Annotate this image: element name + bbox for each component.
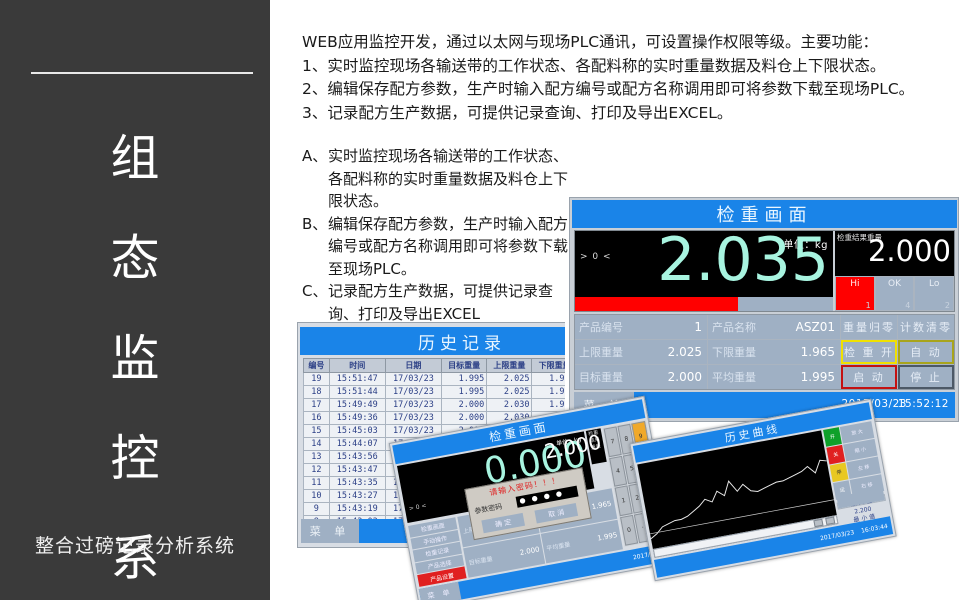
field-value: 1.995 bbox=[801, 370, 835, 384]
status-count: 1 bbox=[866, 301, 871, 310]
result-weight-box: 检重结果重量 2.000 bbox=[835, 231, 954, 276]
table-row[interactable]: 1815:51:4417/03/231.9952.0251.9652.000 bbox=[304, 386, 566, 399]
table-cell: 14 bbox=[304, 438, 330, 451]
field-label: 平均重量 bbox=[712, 369, 756, 385]
list-item: A、 实时监控现场各输送带的工作状态、各配料称的实时重量数据及料仓上下限状态。 bbox=[302, 145, 572, 213]
status-time: 16:03:44 bbox=[861, 523, 889, 535]
table-cell: 2.000 bbox=[442, 412, 487, 425]
field-value: 1.965 bbox=[591, 500, 612, 512]
start-button[interactable]: 启 动 bbox=[841, 365, 897, 389]
zero-indicator: > 0 < bbox=[408, 502, 427, 512]
status-count: 4 bbox=[905, 301, 910, 310]
slide-root: 组 态 监 控 系 统 说 明 整合过磅记录分析系统 WEB应用监控开发，通过以… bbox=[0, 0, 960, 600]
title-sidebar: 组 态 监 控 系 统 说 明 整合过磅记录分析系统 bbox=[0, 0, 270, 600]
dialog-field-label: 参数密码 bbox=[474, 502, 503, 517]
status-time: 15:52:12 bbox=[898, 398, 949, 410]
status-badge-lo[interactable]: Lo 2 bbox=[914, 276, 954, 311]
table-cell: 1.995 bbox=[442, 386, 487, 399]
table-cell: 1.965 bbox=[532, 373, 565, 386]
column-header: 时间 bbox=[329, 359, 385, 373]
column-header: 编号 bbox=[304, 359, 330, 373]
status-date: 2017/03/23 bbox=[820, 529, 855, 542]
field-upper-limit[interactable]: 上限重量 2.025 bbox=[575, 340, 707, 364]
state-indicator: 停 bbox=[830, 463, 849, 483]
table-cell: 2.030 bbox=[487, 399, 532, 412]
field-label: 下限重量 bbox=[712, 344, 756, 360]
table-cell: 17/03/23 bbox=[385, 399, 441, 412]
hmi-title: 检重画面 bbox=[572, 200, 957, 228]
column-header: 目标重量 bbox=[442, 359, 487, 373]
field-label: 目标重量 bbox=[468, 553, 493, 566]
status-count: 2 bbox=[945, 301, 950, 310]
table-cell: 15:49:49 bbox=[329, 399, 385, 412]
param-row: 目标重量 2.000 平均重量 1.995 启 动 停 止 bbox=[575, 365, 954, 389]
table-cell: 2.025 bbox=[487, 373, 532, 386]
title-char: 态 bbox=[0, 234, 270, 284]
table-cell: 15:49:36 bbox=[329, 412, 385, 425]
live-weight-display: > 0 < 单位：kg 2.035 bbox=[575, 231, 833, 311]
table-row[interactable]: 1715:49:4917/03/232.0002.0301.9701.960 bbox=[304, 399, 566, 412]
field-average-weight[interactable]: 平均重量 1.995 bbox=[708, 365, 840, 389]
intro-line: WEB应用监控开发，通过以太网与现场PLC通讯，可设置操作权限等级。主要功能： bbox=[302, 31, 952, 55]
status-label: OK bbox=[876, 279, 914, 289]
status-label: Hi bbox=[836, 279, 874, 289]
list-item-text: 实时监控现场各输送带的工作状态、各配料称的实时重量数据及料仓上下限状态。 bbox=[328, 145, 572, 213]
intro-text: WEB应用监控开发，通过以太网与现场PLC通讯，可设置操作权限等级。主要功能： … bbox=[302, 31, 952, 125]
table-cell: 18 bbox=[304, 386, 330, 399]
table-cell: 15 bbox=[304, 425, 330, 438]
status-label: Lo bbox=[915, 279, 953, 289]
intro-line: 2、编辑保存配方参数，生产时输入配方编号或配方名称调用即可将参数下载至现场PLC… bbox=[302, 78, 952, 102]
table-row[interactable]: 1915:51:4717/03/231.9952.0251.9652.000 bbox=[304, 373, 566, 386]
button-label: 自 动 bbox=[910, 344, 942, 360]
param-row: 产品编号 1 产品名称 ASZ01 重量归零 计数清零 bbox=[575, 315, 954, 339]
list-item: B、 编辑保存配方参数，生产时输入配方编号或配方名称调用即可将参数下载至现场PL… bbox=[302, 213, 572, 281]
scroll-left-button[interactable] bbox=[813, 519, 823, 528]
button-label: 检 重 开 bbox=[844, 344, 894, 360]
column-header: 下限重量 bbox=[532, 359, 565, 373]
result-weight-value: 2.000 bbox=[868, 234, 951, 268]
field-value: ASZ01 bbox=[796, 320, 835, 334]
field-value: 2.000 bbox=[668, 370, 702, 384]
result-panel: 检重结果重量 2.000 Hi 1 OK 4 Lo 2 bbox=[833, 231, 954, 311]
dialog-confirm-button[interactable]: 确 定 bbox=[481, 513, 525, 533]
table-cell: 2.025 bbox=[487, 386, 532, 399]
page-title: 组 态 监 控 系 统 说 明 bbox=[0, 84, 270, 600]
scroll-right-button[interactable] bbox=[825, 517, 835, 526]
param-row: 上限重量 2.025 下限重量 1.965 检 重 开 自 动 bbox=[575, 340, 954, 364]
list-item: C、 记录配方生产数据，可提供记录查询、打印及导出EXCEL bbox=[302, 280, 572, 325]
table-cell: 12 bbox=[304, 464, 330, 477]
table-cell: 10 bbox=[304, 490, 330, 503]
table-cell: 11 bbox=[304, 477, 330, 490]
table-cell: 1.965 bbox=[532, 386, 565, 399]
list-item-key: C、 bbox=[302, 280, 328, 303]
table-cell: 15:43:35 bbox=[329, 477, 385, 490]
intro-line: 1、实时监控现场各输送带的工作状态、各配料称的实时重量数据及料仓上下限状态。 bbox=[302, 55, 952, 79]
title-char: 组 bbox=[0, 134, 270, 184]
table-header-row: 编号 时间 日期 目标重量 上限重量 下限重量 实际重量 bbox=[304, 359, 566, 373]
field-label: 产品编号 bbox=[579, 319, 623, 335]
field-value: 2.000 bbox=[519, 545, 540, 557]
table-cell: 17/03/23 bbox=[385, 373, 441, 386]
field-label: 平均重量 bbox=[546, 539, 571, 552]
divider-rule bbox=[31, 72, 253, 74]
field-target-weight[interactable]: 目标重量 2.000 bbox=[575, 365, 707, 389]
stop-button[interactable]: 停 止 bbox=[898, 365, 954, 389]
table-cell: 15:45:03 bbox=[329, 425, 385, 438]
history-curve-screenshot: 历史曲线 开 放 大 关 缩 小 停 左 移 bbox=[629, 399, 896, 581]
table-cell: 2.000 bbox=[442, 399, 487, 412]
list-item-key: B、 bbox=[302, 213, 328, 236]
field-value: 2.025 bbox=[668, 345, 702, 359]
list-item-text: 编辑保存配方参数，生产时输入配方编号或配方名称调用即可将参数下载至现场PLC。 bbox=[328, 213, 572, 281]
feature-list: A、 实时监控现场各输送带的工作状态、各配料称的实时重量数据及料仓上下限状态。 … bbox=[302, 145, 572, 325]
table-cell: 15:44:07 bbox=[329, 438, 385, 451]
status-badge-ok[interactable]: OK 4 bbox=[875, 276, 915, 311]
menu-button[interactable]: 菜 单 bbox=[301, 519, 359, 543]
table-cell: 1.970 bbox=[532, 399, 565, 412]
table-cell: 15:51:44 bbox=[329, 386, 385, 399]
curve-minmax-info: 最 大 值 2.200 最 小 值 1.900 bbox=[837, 494, 886, 510]
hmi-parameter-grid: 产品编号 1 产品名称 ASZ01 重量归零 计数清零 上限重量 2.025 bbox=[574, 314, 955, 390]
table-cell: 15:51:47 bbox=[329, 373, 385, 386]
field-value: 1 bbox=[694, 320, 702, 334]
button-label: 重量归零 bbox=[843, 319, 895, 335]
field-label: 产品名称 bbox=[712, 319, 756, 335]
field-label: 上限重量 bbox=[579, 344, 623, 360]
weight-bar-track bbox=[575, 297, 833, 311]
intro-line: 3、记录配方生产数据，可提供记录查询、打印及导出EXCEL。 bbox=[302, 102, 952, 126]
state-indicator: 关 bbox=[826, 445, 845, 465]
table-cell: 15:43:47 bbox=[329, 464, 385, 477]
title-char: 监 bbox=[0, 334, 270, 384]
field-value: 1.995 bbox=[597, 531, 618, 543]
table-cell: 13 bbox=[304, 451, 330, 464]
table-cell: 16 bbox=[304, 412, 330, 425]
table-cell: 17 bbox=[304, 399, 330, 412]
state-indicator: 开 bbox=[823, 427, 842, 447]
weight-bar-fill bbox=[575, 297, 738, 311]
field-lower-limit[interactable]: 下限重量 1.965 bbox=[708, 340, 840, 364]
history-panel-title: 历史记录 bbox=[300, 327, 565, 355]
table-cell: 17/03/23 bbox=[385, 412, 441, 425]
live-weight-value: 2.035 bbox=[657, 231, 829, 295]
button-label: 计数清零 bbox=[900, 319, 952, 335]
page-subtitle: 整合过磅记录分析系统 bbox=[0, 531, 270, 558]
button-label: 启 动 bbox=[853, 369, 885, 385]
checkweigh-on-button[interactable]: 检 重 开 bbox=[841, 340, 897, 364]
field-product-code[interactable]: 产品编号 1 bbox=[575, 315, 707, 339]
tilt-side-menu: 检重画面手动操作检重记录产品选择产品设置 bbox=[408, 517, 466, 587]
list-item-text: 记录配方生产数据，可提供记录查询、打印及导出EXCEL bbox=[328, 280, 572, 325]
checkweigher-screenshot: 检重画面 > 0 < 单位：kg 2.035 检重结果重量 2.000 Hi bbox=[569, 197, 959, 422]
auto-mode-button[interactable]: 自 动 bbox=[898, 340, 954, 364]
table-cell: 1.995 bbox=[442, 373, 487, 386]
field-value: 1.965 bbox=[801, 345, 835, 359]
field-label: 目标重量 bbox=[579, 369, 623, 385]
table-cell: 9 bbox=[304, 503, 330, 516]
table-cell: 15:43:56 bbox=[329, 451, 385, 464]
hmi-display-area: > 0 < 单位：kg 2.035 检重结果重量 2.000 Hi 1 bbox=[574, 230, 955, 312]
zero-indicator: > 0 < bbox=[580, 252, 612, 262]
button-label: 停 止 bbox=[910, 369, 942, 385]
column-header: 日期 bbox=[385, 359, 441, 373]
zero-weight-button[interactable]: 重量归零 bbox=[841, 315, 897, 339]
status-counters: Hi 1 OK 4 Lo 2 bbox=[835, 276, 954, 311]
table-cell: 15:43:27 bbox=[329, 490, 385, 503]
status-badge-hi[interactable]: Hi 1 bbox=[835, 276, 875, 311]
dialog-cancel-button[interactable]: 取 消 bbox=[534, 503, 578, 523]
field-product-name[interactable]: 产品名称 ASZ01 bbox=[708, 315, 840, 339]
table-cell: 19 bbox=[304, 373, 330, 386]
table-cell: 17/03/23 bbox=[385, 386, 441, 399]
clear-count-button[interactable]: 计数清零 bbox=[898, 315, 954, 339]
column-header: 上限重量 bbox=[487, 359, 532, 373]
list-item-key: A、 bbox=[302, 145, 328, 168]
table-cell: 15:43:19 bbox=[329, 503, 385, 516]
title-char: 控 bbox=[0, 434, 270, 484]
